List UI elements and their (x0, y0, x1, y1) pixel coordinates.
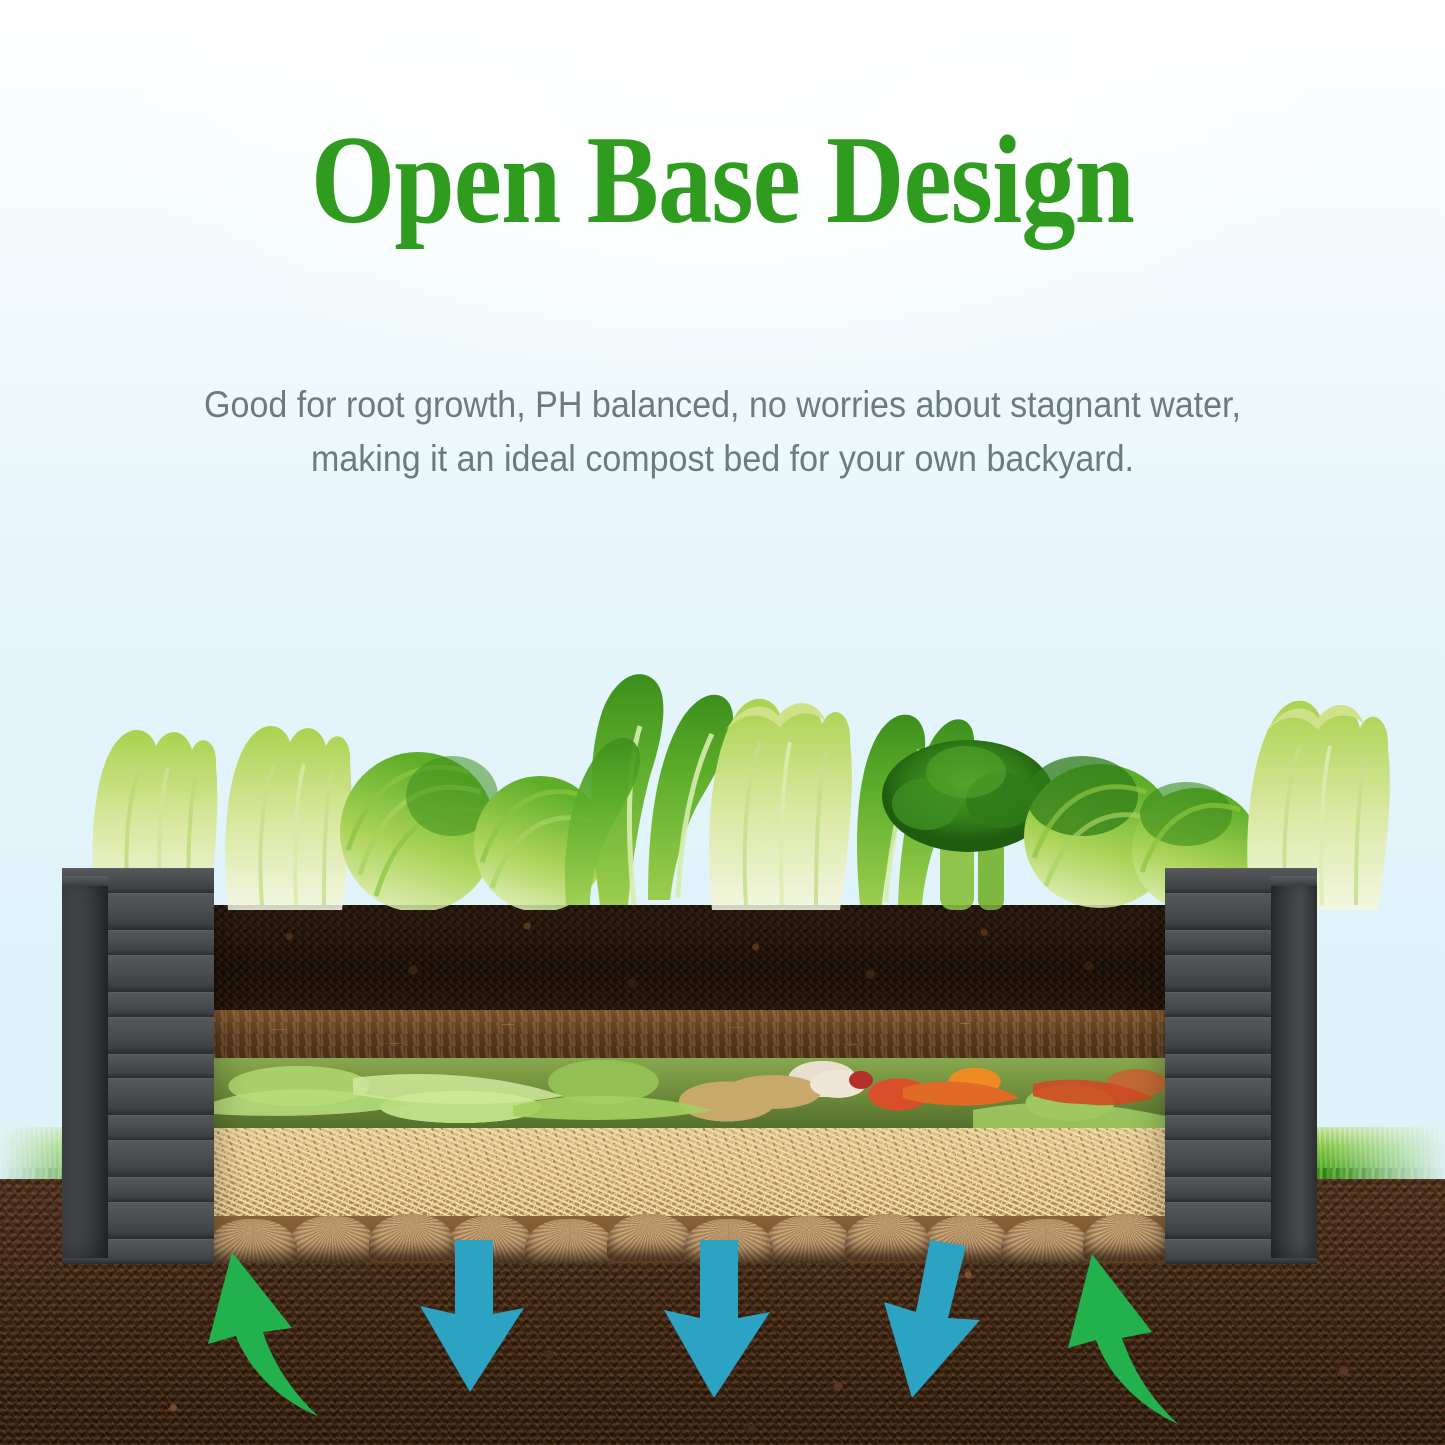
plant-napa-cabbage (225, 726, 351, 910)
subtitle-line-1: Good for root growth, PH balanced, no wo… (58, 378, 1387, 432)
page-title: Open Base Design (101, 118, 1344, 244)
arrow-down-blue (420, 1240, 524, 1392)
corner-post-left (62, 876, 108, 1258)
arrow-up-green (1068, 1254, 1178, 1424)
arrow-up-green (208, 1252, 318, 1416)
arrow-down-blue (664, 1240, 770, 1398)
airflow-drainage-arrows (0, 1240, 1445, 1445)
corner-post-right (1271, 876, 1317, 1258)
arrow-down-blue (884, 1240, 980, 1398)
layer-kitchen-scraps (213, 1058, 1165, 1128)
vegetable-row (0, 600, 1445, 910)
plant-napa-cabbage (709, 699, 852, 910)
plant-swiss-chard (565, 674, 733, 905)
subtitle-line-2: making it an ideal compost bed for your … (58, 432, 1387, 486)
page-subtitle: Good for root growth, PH balanced, no wo… (58, 378, 1387, 487)
plant-green-cabbage (340, 752, 498, 910)
bed-cross-section (213, 905, 1165, 1263)
layer-bark-compost (213, 1010, 1165, 1058)
layer-topsoil (213, 905, 1165, 1010)
layer-straw-mulch (213, 1128, 1165, 1216)
